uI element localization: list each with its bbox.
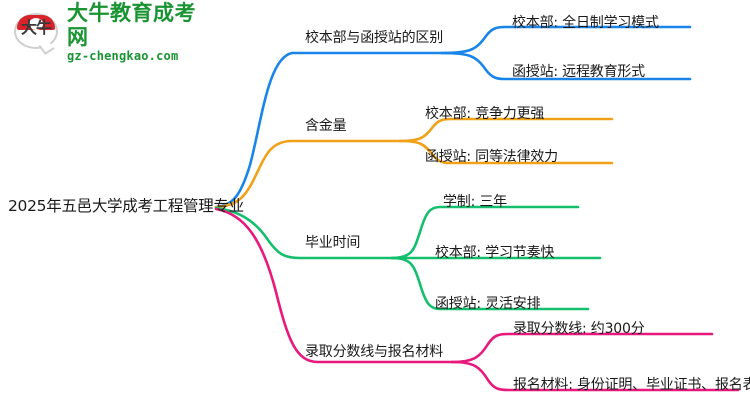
connector-branch-4-to-child-1 xyxy=(452,334,712,362)
connector-branch-2-to-child-1 xyxy=(400,119,612,141)
mindmap-leaf-1-2[interactable]: 函授站: 远程教育形式 xyxy=(512,65,645,79)
mindmap-branch-4[interactable]: 录取分数线与报名材料 xyxy=(305,345,443,359)
mindmap-branch-1[interactable]: 校本部与函授站的区别 xyxy=(305,31,443,45)
mindmap-leaf-3-1[interactable]: 学制: 三年 xyxy=(443,195,507,209)
mindmap-branch-3[interactable]: 毕业时间 xyxy=(305,236,360,250)
mindmap-leaf-4-1[interactable]: 录取分数线: 约300分 xyxy=(513,322,645,336)
connector-root-to-branch-4 xyxy=(216,209,452,362)
mindmap-leaf-3-3[interactable]: 函授站: 灵活安排 xyxy=(435,297,540,311)
mindmap-leaf-4-2[interactable]: 报名材料: 身份证明、毕业证书、报名表 xyxy=(513,378,750,392)
mindmap-leaf-1-1[interactable]: 校本部: 全日制学习模式 xyxy=(512,16,659,30)
mindmap-leaf-3-2[interactable]: 校本部: 学习节奏快 xyxy=(435,246,554,260)
mindmap-leaf-2-2[interactable]: 函授站: 同等法律效力 xyxy=(425,150,558,164)
connector-root-to-branch-3 xyxy=(216,208,392,258)
mindmap-branch-2[interactable]: 含金量 xyxy=(305,119,346,133)
mindmap-root-node[interactable]: 2025年五邑大学成考工程管理专业 xyxy=(8,199,244,215)
mindmap-leaf-2-1[interactable]: 校本部: 竞争力更强 xyxy=(425,107,544,121)
